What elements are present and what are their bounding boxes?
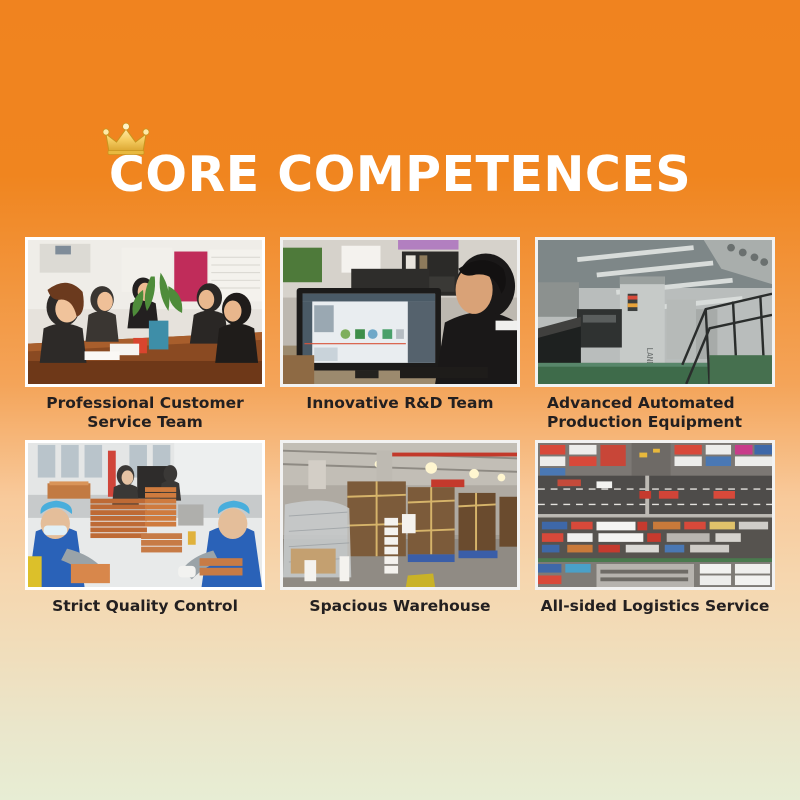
card-caption: Strict Quality Control	[25, 597, 265, 616]
card-caption-line1: Spacious Warehouse	[309, 597, 490, 615]
competence-card-advanced-automated-production-equipment[interactable]: LAND 800 Advanced Autom	[535, 237, 775, 432]
competences-grid: Professional Customer Service Team	[25, 237, 775, 616]
printing-press-illustration: LAND 800	[538, 240, 772, 384]
card-caption: Professional Customer Service Team	[25, 394, 265, 432]
card-caption-line1: All-sided Logistics Service	[541, 597, 770, 615]
card-caption-line1: Strict Quality Control	[52, 597, 238, 615]
card-caption-line2: Service Team	[87, 413, 202, 431]
quality-control-illustration	[28, 443, 262, 587]
warehouse-illustration	[283, 443, 517, 587]
meeting-room-illustration	[28, 240, 262, 384]
card-image-cad-workstation	[280, 237, 520, 387]
card-caption-line1: Advanced Automated	[547, 394, 735, 412]
page-title: CORE COMPETENCES	[109, 150, 691, 199]
crown-icon	[103, 122, 149, 156]
card-caption: Innovative R&D Team	[280, 394, 520, 413]
competence-card-all-sided-logistics-service[interactable]: All-sided Logistics Service	[535, 440, 775, 616]
card-image-meeting-room	[25, 237, 265, 387]
cad-workstation-illustration	[283, 240, 517, 384]
card-caption: All-sided Logistics Service	[535, 597, 775, 616]
competence-card-professional-customer-service-team[interactable]: Professional Customer Service Team	[25, 237, 265, 432]
competence-card-spacious-warehouse[interactable]: Spacious Warehouse	[280, 440, 520, 616]
card-image-quality-control	[25, 440, 265, 590]
page-title-block: CORE COMPETENCES	[0, 150, 800, 199]
card-caption: Spacious Warehouse	[280, 597, 520, 616]
card-caption-line1: Innovative R&D Team	[306, 394, 493, 412]
competence-card-innovative-rd-team[interactable]: Innovative R&D Team	[280, 237, 520, 432]
card-caption-line1: Professional Customer	[46, 394, 244, 412]
card-image-logistics-aerial	[535, 440, 775, 590]
card-image-warehouse	[280, 440, 520, 590]
logistics-aerial-illustration	[538, 443, 772, 587]
card-image-printing-press: LAND 800	[535, 237, 775, 387]
card-caption-line2: Production Equipment	[547, 413, 742, 431]
card-caption: Advanced Automated Production Equipment	[535, 394, 775, 432]
competence-card-strict-quality-control[interactable]: Strict Quality Control	[25, 440, 265, 616]
